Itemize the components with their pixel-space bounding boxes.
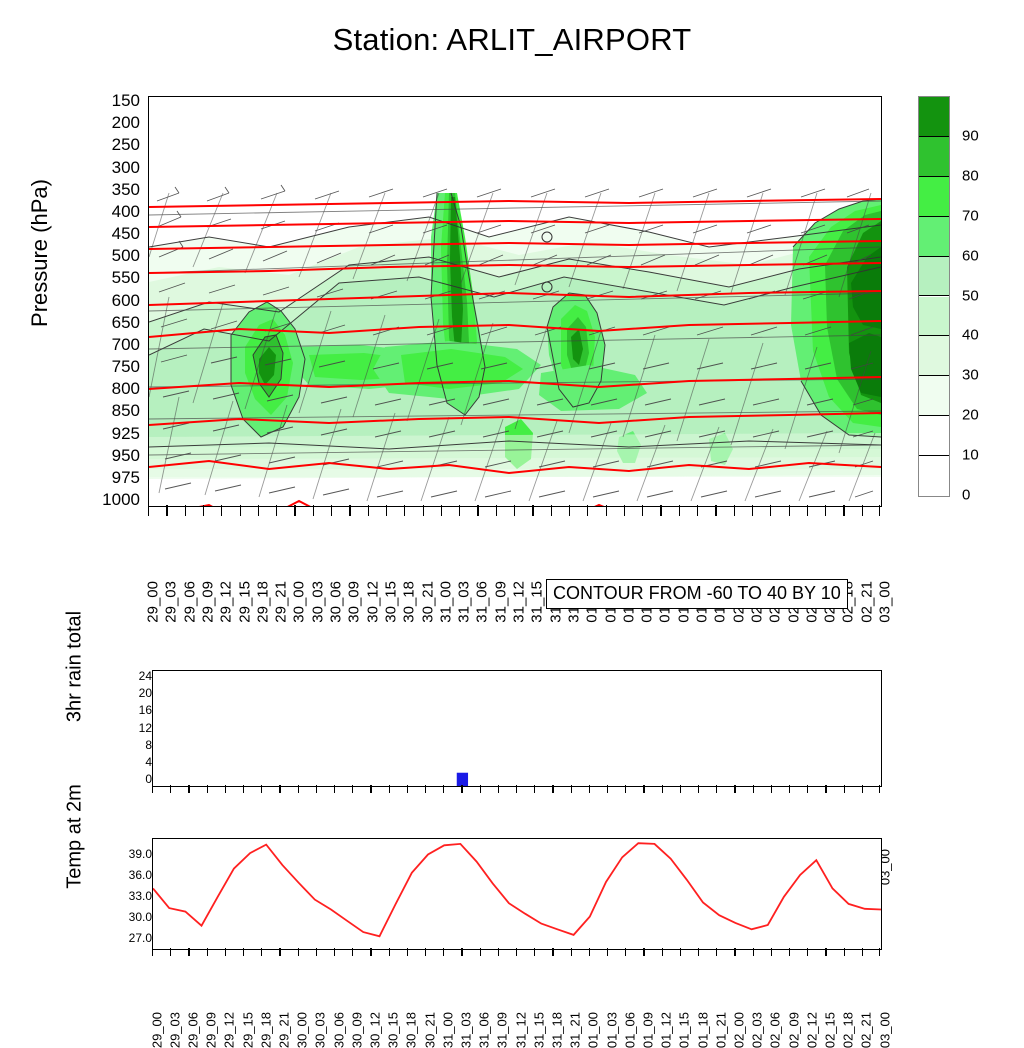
main-x-tick xyxy=(349,505,350,516)
x-tick-label: 01_21 xyxy=(713,1012,728,1048)
main-y-tick: 600 xyxy=(78,291,140,311)
temp-y-tick: 33.0 xyxy=(114,889,152,903)
x-tick-label: 31_12 xyxy=(513,1012,528,1048)
colorbar-tick-label: 60 xyxy=(962,247,979,264)
x-tick xyxy=(461,948,462,956)
main-x-tick xyxy=(770,505,771,516)
main-x-tick-label: 29_00 xyxy=(145,581,162,623)
main-x-tick-label: 30_18 xyxy=(401,581,418,623)
rain-y-tick: 8 xyxy=(126,738,152,752)
x-tick xyxy=(643,948,644,956)
colorbar-tick-label: 10 xyxy=(962,447,979,464)
colorbar-segment xyxy=(919,97,949,137)
main-x-tick xyxy=(166,505,167,516)
x-tick xyxy=(607,948,608,956)
x-tick xyxy=(170,948,171,956)
colorbar-segment xyxy=(919,177,949,217)
x-tick xyxy=(607,785,608,793)
main-y-tick: 450 xyxy=(78,224,140,244)
main-y-tick: 1000 xyxy=(78,490,140,510)
main-x-tick-label: 31_09 xyxy=(492,581,509,623)
colorbar-tick-label: 20 xyxy=(962,407,979,424)
x-tick xyxy=(807,785,808,793)
x-tick-label: 31_09 xyxy=(495,1012,510,1048)
x-tick xyxy=(698,948,699,956)
x-tick-label: 01_06 xyxy=(622,1012,637,1048)
temp-line xyxy=(153,843,881,936)
colorbar-segment xyxy=(919,416,949,456)
x-tick xyxy=(352,785,353,793)
cross-section-canvas xyxy=(149,97,881,506)
rain-y-tick: 16 xyxy=(126,703,152,717)
main-y-tick: 150 xyxy=(78,91,140,111)
x-tick-label: 02_12 xyxy=(804,1012,819,1048)
main-x-tick-label: 29_12 xyxy=(218,581,235,623)
colorbar-tick-label: 50 xyxy=(962,287,979,304)
main-x-tick-label: 31_12 xyxy=(511,581,528,623)
main-x-tick-label: 30_09 xyxy=(346,581,363,623)
x-tick-label: 03_00 xyxy=(877,1012,892,1048)
x-tick xyxy=(753,948,754,956)
main-x-tick xyxy=(514,505,515,516)
main-x-ticks xyxy=(148,505,880,519)
main-x-tick-label: 31_15 xyxy=(529,581,546,623)
x-tick xyxy=(389,948,390,956)
x-tick xyxy=(352,948,353,956)
x-tick-label: 30_21 xyxy=(422,1012,437,1048)
colorbar-segment xyxy=(919,137,949,177)
x-tick xyxy=(480,785,481,793)
x-tick xyxy=(461,785,462,793)
x-tick xyxy=(334,785,335,793)
temp-y-tick: 36.0 xyxy=(114,868,152,882)
x-tick-label: 01_12 xyxy=(659,1012,674,1048)
main-x-tick-label: 30_15 xyxy=(382,581,399,623)
x-tick xyxy=(552,948,553,956)
main-x-tick xyxy=(386,505,387,516)
rain-bars-canvas xyxy=(153,671,881,786)
x-tick xyxy=(552,785,553,793)
x-tick xyxy=(225,948,226,956)
x-tick xyxy=(516,785,517,793)
main-x-tick xyxy=(752,505,753,516)
x-tick xyxy=(625,948,626,956)
rain-y-tick: 0 xyxy=(126,772,152,786)
x-tick xyxy=(188,948,189,956)
x-tick xyxy=(771,948,772,956)
main-x-tick xyxy=(459,505,460,516)
x-tick xyxy=(389,785,390,793)
x-tick-label: 29_06 xyxy=(185,1012,200,1048)
rain-y-axis-label: 3hr rain total xyxy=(64,562,87,772)
main-x-tick xyxy=(660,505,661,516)
x-tick-label: 02_21 xyxy=(859,1012,874,1048)
x-tick xyxy=(370,948,371,956)
x-tick xyxy=(734,785,735,793)
main-x-tick-label: 29_03 xyxy=(163,581,180,623)
x-tick xyxy=(170,785,171,793)
x-tick xyxy=(516,948,517,956)
x-tick xyxy=(862,785,863,793)
x-tick-label: 02_15 xyxy=(822,1012,837,1048)
colorbar-segment xyxy=(919,217,949,257)
x-tick xyxy=(625,785,626,793)
x-tick xyxy=(662,785,663,793)
temp-y-tick-labels: 39.036.033.030.027.0 xyxy=(100,838,152,948)
x-tick xyxy=(844,948,845,956)
x-tick xyxy=(498,785,499,793)
x-tick-label: 31_18 xyxy=(549,1012,564,1048)
x-tick-label: 30_00 xyxy=(295,1012,310,1048)
x-tick xyxy=(680,785,681,793)
colorbar-tick-label: 0 xyxy=(962,487,970,504)
main-x-tick xyxy=(862,505,863,516)
x-tick-label: 29_21 xyxy=(276,1012,291,1048)
x-tick xyxy=(279,948,280,956)
x-tick xyxy=(879,948,880,956)
x-tick-label: 29_03 xyxy=(167,1012,182,1048)
x-tick xyxy=(789,785,790,793)
main-x-tick xyxy=(221,505,222,516)
main-y-tick: 950 xyxy=(78,446,140,466)
contour-info-box: CONTOUR FROM -60 TO 40 BY 10 xyxy=(546,579,848,609)
main-x-tick-label: 30_03 xyxy=(309,581,326,623)
main-x-tick-label: 30_06 xyxy=(328,581,345,623)
x-tick xyxy=(188,785,189,793)
colorbar-segment xyxy=(919,297,949,337)
main-x-tick xyxy=(313,505,314,516)
colorbar-segment xyxy=(919,456,949,496)
main-x-tick-labels: 29_0029_0329_0629_0929_1229_1529_1829_21… xyxy=(148,519,880,583)
x-tick-label: 01_00 xyxy=(586,1012,601,1048)
main-y-tick: 750 xyxy=(78,357,140,377)
x-tick xyxy=(334,948,335,956)
main-x-tick xyxy=(734,505,735,516)
x-tick xyxy=(425,785,426,793)
x-tick xyxy=(734,948,735,956)
main-y-tick: 300 xyxy=(78,158,140,178)
temp-line-canvas xyxy=(153,839,881,949)
x-tick-label: 02_06 xyxy=(768,1012,783,1048)
x-tick-label: 31_21 xyxy=(568,1012,583,1048)
main-x-tick-label: 29_21 xyxy=(273,581,290,623)
x-tick xyxy=(825,948,826,956)
x-tick-label: 29_15 xyxy=(240,1012,255,1048)
main-x-tick-label: 30_00 xyxy=(291,581,308,623)
time-height-cross-section[interactable] xyxy=(148,96,882,507)
main-y-tick: 550 xyxy=(78,268,140,288)
main-y-tick: 400 xyxy=(78,202,140,222)
temp-y-tick: 27.0 xyxy=(114,931,152,945)
temp-x-tick-labels: 29_0029_0329_0629_0929_1229_1529_1829_21… xyxy=(152,956,880,1014)
main-x-tick xyxy=(624,505,625,516)
main-y-tick: 700 xyxy=(78,335,140,355)
x-tick-label: 01_15 xyxy=(677,1012,692,1048)
main-x-tick xyxy=(807,505,808,516)
x-tick xyxy=(589,785,590,793)
x-tick xyxy=(571,785,572,793)
main-x-tick-label: 30_12 xyxy=(364,581,381,623)
x-tick xyxy=(407,785,408,793)
x-tick-label: 30_09 xyxy=(349,1012,364,1048)
main-x-tick xyxy=(477,505,478,516)
x-tick xyxy=(862,948,863,956)
x-tick-label: 29_12 xyxy=(222,1012,237,1048)
x-tick-label: 02_09 xyxy=(786,1012,801,1048)
x-tick xyxy=(753,785,754,793)
colorbar-tick-label: 40 xyxy=(962,327,979,344)
x-tick-label: 01_09 xyxy=(640,1012,655,1048)
x-tick-label: 29_18 xyxy=(258,1012,273,1048)
x-tick-label: 31_00 xyxy=(440,1012,455,1048)
main-x-tick xyxy=(331,505,332,516)
colorbar-segment xyxy=(919,376,949,416)
page-title: Station: ARLIT_AIRPORT xyxy=(0,22,1024,58)
x-tick xyxy=(207,948,208,956)
main-x-tick-label: 30_21 xyxy=(419,581,436,623)
x-tick xyxy=(589,948,590,956)
x-tick-label: 30_12 xyxy=(367,1012,382,1048)
x-tick xyxy=(789,948,790,956)
colorbar-segment xyxy=(919,336,949,376)
main-y-tick: 500 xyxy=(78,246,140,266)
x-tick xyxy=(261,948,262,956)
main-x-tick xyxy=(642,505,643,516)
x-tick xyxy=(771,785,772,793)
main-x-tick-label: 29_18 xyxy=(254,581,271,623)
main-x-tick xyxy=(496,505,497,516)
x-tick xyxy=(807,948,808,956)
temperature-panel[interactable] xyxy=(152,838,882,950)
temp-y-axis-label: Temp at 2m xyxy=(64,742,87,932)
main-x-tick xyxy=(294,505,295,516)
x-tick xyxy=(879,785,880,793)
main-x-tick xyxy=(404,505,405,516)
x-tick xyxy=(443,948,444,956)
rain-y-tick-labels: 24201612840 xyxy=(112,670,152,785)
main-x-tick xyxy=(879,505,880,516)
relative-humidity-colorbar[interactable] xyxy=(918,96,950,497)
x-tick xyxy=(716,948,717,956)
main-y-tick: 800 xyxy=(78,379,140,399)
x-tick-label: 29_00 xyxy=(149,1012,164,1048)
x-tick xyxy=(662,948,663,956)
main-x-tick xyxy=(258,505,259,516)
main-x-tick xyxy=(843,505,844,516)
x-tick xyxy=(243,785,244,793)
x-tick-label: 30_15 xyxy=(386,1012,401,1048)
rain-total-panel[interactable] xyxy=(152,670,882,787)
rain-y-tick: 20 xyxy=(126,686,152,700)
main-x-tick-label: 29_06 xyxy=(181,581,198,623)
x-tick xyxy=(534,948,535,956)
main-y-tick-labels: 1502002503003504004505005506006507007508… xyxy=(78,96,140,505)
main-x-tick xyxy=(368,505,369,516)
x-tick-label: 30_03 xyxy=(313,1012,328,1048)
main-x-tick xyxy=(276,505,277,516)
x-tick-label: 31_15 xyxy=(531,1012,546,1048)
colorbar-tick-label: 70 xyxy=(962,207,979,224)
main-x-tick-label: 29_15 xyxy=(236,581,253,623)
rain-y-tick: 12 xyxy=(126,721,152,735)
x-tick xyxy=(152,785,153,793)
x-tick-label: 30_06 xyxy=(331,1012,346,1048)
main-x-tick xyxy=(203,505,204,516)
colorbar-tick-label: 90 xyxy=(962,127,979,144)
main-y-axis-label: Pressure (hPa) xyxy=(27,93,53,413)
temp-y-tick: 39.0 xyxy=(114,847,152,861)
x-tick-label: 31_03 xyxy=(458,1012,473,1048)
x-tick xyxy=(716,785,717,793)
x-tick xyxy=(571,948,572,956)
main-x-tick xyxy=(148,505,149,516)
x-tick xyxy=(298,785,299,793)
x-tick xyxy=(279,785,280,793)
x-tick-label: 02_00 xyxy=(731,1012,746,1048)
main-x-tick xyxy=(185,505,186,516)
main-x-tick-label: 29_09 xyxy=(199,581,216,623)
x-tick xyxy=(316,948,317,956)
x-tick xyxy=(407,948,408,956)
main-x-tick xyxy=(532,505,533,516)
main-x-tick xyxy=(423,505,424,516)
main-x-tick xyxy=(606,505,607,516)
x-tick-label: 31_06 xyxy=(477,1012,492,1048)
x-tick xyxy=(498,948,499,956)
main-y-tick: 350 xyxy=(78,180,140,200)
x-tick xyxy=(207,785,208,793)
x-tick xyxy=(370,785,371,793)
main-x-tick xyxy=(551,505,552,516)
main-x-tick xyxy=(587,505,588,516)
main-y-tick: 650 xyxy=(78,313,140,333)
x-tick xyxy=(480,948,481,956)
colorbar-tick-label: 80 xyxy=(962,167,979,184)
x-tick xyxy=(643,785,644,793)
x-tick xyxy=(243,948,244,956)
rain-y-tick: 4 xyxy=(126,755,152,769)
x-tick xyxy=(534,785,535,793)
main-x-tick-label: 31_06 xyxy=(474,581,491,623)
x-tick-label: 02_18 xyxy=(841,1012,856,1048)
x-tick xyxy=(680,948,681,956)
x-tick-label: 01_03 xyxy=(604,1012,619,1048)
main-x-tick xyxy=(789,505,790,516)
x-tick xyxy=(298,948,299,956)
colorbar-segment xyxy=(919,257,949,297)
x-tick xyxy=(225,785,226,793)
x-tick xyxy=(152,948,153,956)
main-x-tick xyxy=(697,505,698,516)
x-tick xyxy=(825,785,826,793)
main-y-tick: 975 xyxy=(78,468,140,488)
x-tick xyxy=(698,785,699,793)
main-x-tick xyxy=(240,505,241,516)
main-y-tick: 850 xyxy=(78,401,140,421)
temp-y-tick: 30.0 xyxy=(114,910,152,924)
colorbar-tick-label: 30 xyxy=(962,367,979,384)
x-tick xyxy=(844,785,845,793)
x-tick-label: 30_18 xyxy=(404,1012,419,1048)
x-tick xyxy=(425,948,426,956)
main-x-tick-label: 31_03 xyxy=(456,581,473,623)
x-tick-label: 01_18 xyxy=(695,1012,710,1048)
main-x-tick xyxy=(441,505,442,516)
rain-y-tick: 24 xyxy=(126,669,152,683)
x-tick-label: 02_03 xyxy=(750,1012,765,1048)
main-x-tick xyxy=(679,505,680,516)
main-x-tick xyxy=(825,505,826,516)
main-x-tick-label: 03_00 xyxy=(877,581,894,623)
main-x-tick-label: 31_00 xyxy=(437,581,454,623)
main-y-tick: 250 xyxy=(78,135,140,155)
main-x-tick xyxy=(715,505,716,516)
main-x-tick xyxy=(569,505,570,516)
main-x-tick-label: 02_21 xyxy=(858,581,875,623)
x-tick xyxy=(261,785,262,793)
x-tick xyxy=(443,785,444,793)
main-y-tick: 200 xyxy=(78,113,140,133)
x-tick-label: 29_09 xyxy=(204,1012,219,1048)
rain-bar xyxy=(457,773,468,786)
x-tick xyxy=(316,785,317,793)
main-y-tick: 925 xyxy=(78,424,140,444)
